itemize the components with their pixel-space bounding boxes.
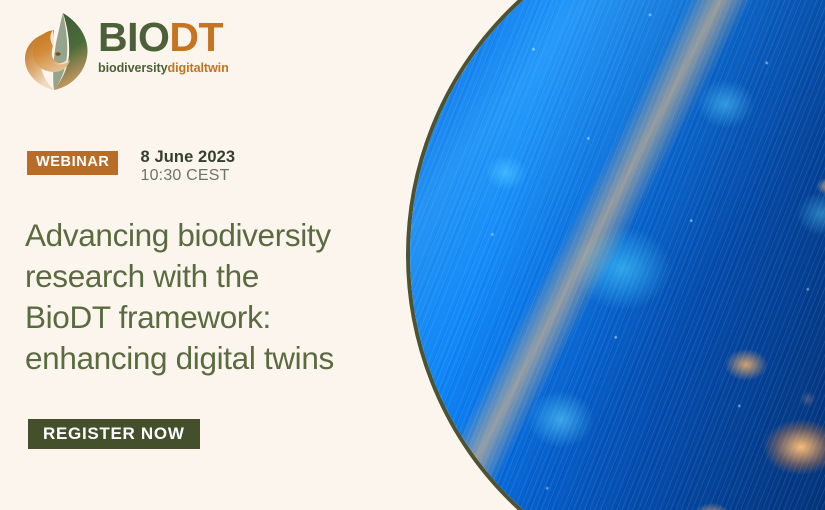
event-time: 10:30 CEST [140,167,235,186]
page-title: Advancing biodiversity research with the… [25,215,405,379]
headline-line-1: Advancing biodiversity [25,215,405,256]
tagline-biodiversity: biodiversity [98,61,168,75]
tagline-digitaltwin: digitaltwin [168,61,229,75]
webinar-badge: WEBINAR [27,151,118,175]
event-datetime: 8 June 2023 10:30 CEST [140,148,235,186]
globe-bokeh-layer [410,0,825,510]
webinar-promo-poster: BIODT biodiversitydigitaltwin WEBINAR 8 … [0,0,825,510]
headline-line-2: research with the [25,256,405,297]
tagline-line: biodiversitydigitaltwin [98,61,230,75]
biodt-wordmark: BIODT biodiversitydigitaltwin [98,17,230,75]
biodt-logo[interactable]: BIODT biodiversitydigitaltwin [18,10,230,92]
headline-line-3: BioDT framework: [25,297,405,338]
digital-earth-image [406,0,825,510]
wordmark-dt: DT [169,14,223,60]
headline-line-4: enhancing digital twins [25,338,405,379]
event-meta: WEBINAR 8 June 2023 10:30 CEST [27,148,235,186]
register-now-button[interactable]: REGISTER NOW [28,419,200,449]
wordmark-bio: BIO [98,14,169,60]
event-date: 8 June 2023 [140,148,235,167]
wordmark-line: BIODT [98,17,230,58]
fox-in-leaf-icon [18,10,92,92]
